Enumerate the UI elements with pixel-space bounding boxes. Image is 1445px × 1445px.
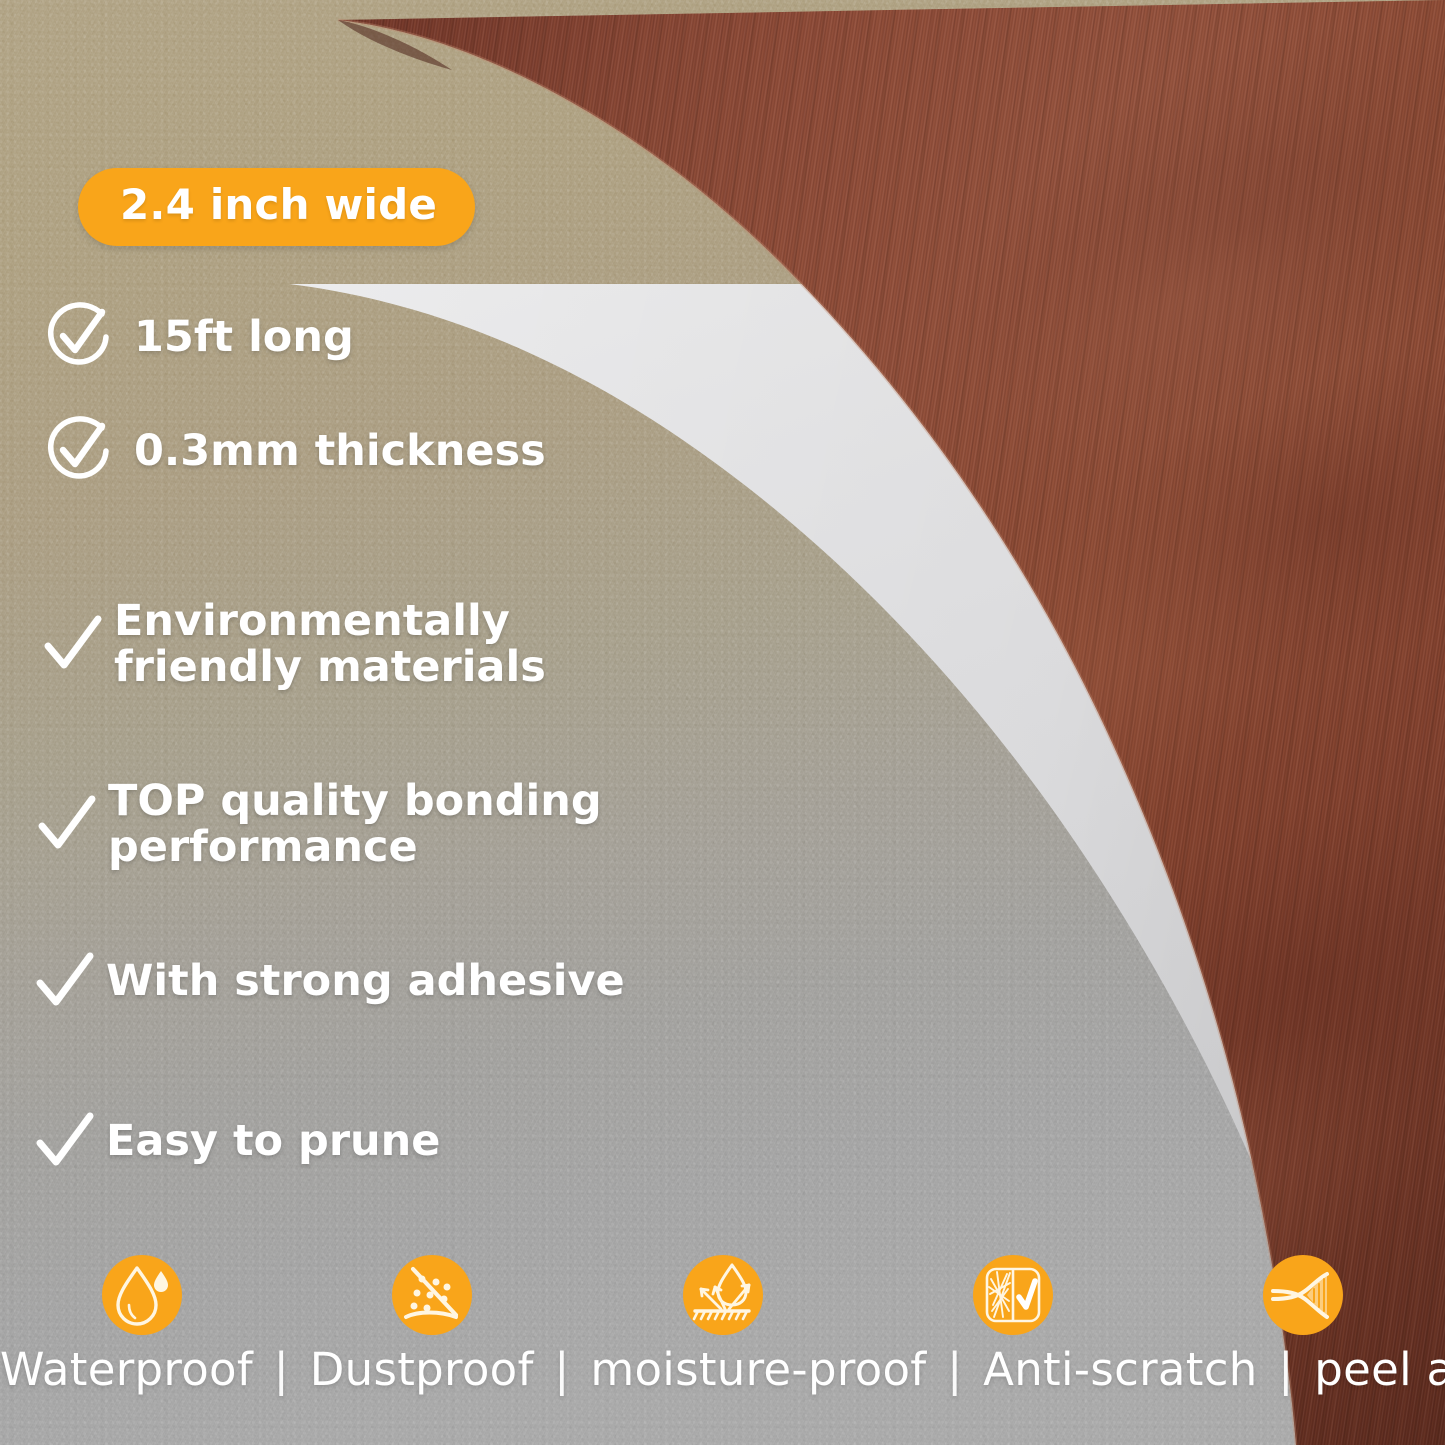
circle-feature-label: 15ft long: [134, 316, 354, 359]
benefit-strip: Waterproof | Dustproof | moisture-proof …: [0, 1249, 1445, 1419]
check-icon: [42, 613, 104, 675]
circle-feature-row: 0.3mm thickness: [42, 414, 546, 488]
circle-check-icon: [42, 300, 116, 374]
benefit-caption-anti-scratch: Anti-scratch: [983, 1343, 1257, 1396]
width-badge: 2.4 inch wide: [78, 168, 475, 246]
check-icon: [36, 793, 98, 855]
circle-feature-label: 0.3mm thickness: [134, 430, 546, 473]
benefit-caption-waterproof: Waterproof: [0, 1343, 253, 1396]
overlay-content: 2.4 inch wide 15ft long 0.3mm thickness: [0, 0, 1445, 1445]
benefit-icon-row: [0, 1249, 1445, 1341]
check-icon: [34, 1110, 96, 1172]
feature-label: TOP quality bonding performance: [108, 778, 602, 871]
waterproof-droplet-icon: [96, 1249, 188, 1341]
product-feature-image: 2.4 inch wide 15ft long 0.3mm thickness: [0, 0, 1445, 1445]
feature-row: Environmentally friendly materials: [42, 598, 546, 691]
feature-row: With strong adhesive: [34, 950, 625, 1012]
caption-separator: |: [941, 1343, 968, 1396]
check-icon: [34, 950, 96, 1012]
feature-label: With strong adhesive: [106, 958, 625, 1004]
peel-and-stick-icon: [1257, 1249, 1349, 1341]
moisture-proof-icon: [677, 1249, 769, 1341]
feature-label: Easy to prune: [106, 1118, 440, 1164]
feature-row: Easy to prune: [34, 1110, 440, 1172]
benefit-caption-dustproof: Dustproof: [310, 1343, 534, 1396]
caption-separator: |: [268, 1343, 295, 1396]
caption-separator: |: [548, 1343, 575, 1396]
feature-label: Environmentally friendly materials: [114, 598, 546, 691]
benefit-caption-moisture-proof: moisture-proof: [590, 1343, 926, 1396]
benefit-caption-peel-and-stick: peel and stick: [1314, 1343, 1445, 1396]
circle-check-icon: [42, 414, 116, 488]
benefit-caption: Waterproof | Dustproof | moisture-proof …: [0, 1345, 1445, 1395]
dustproof-icon: [386, 1249, 478, 1341]
feature-row: TOP quality bonding performance: [36, 778, 602, 871]
caption-separator: |: [1272, 1343, 1299, 1396]
circle-feature-row: 15ft long: [42, 300, 354, 374]
anti-scratch-icon: [967, 1249, 1059, 1341]
